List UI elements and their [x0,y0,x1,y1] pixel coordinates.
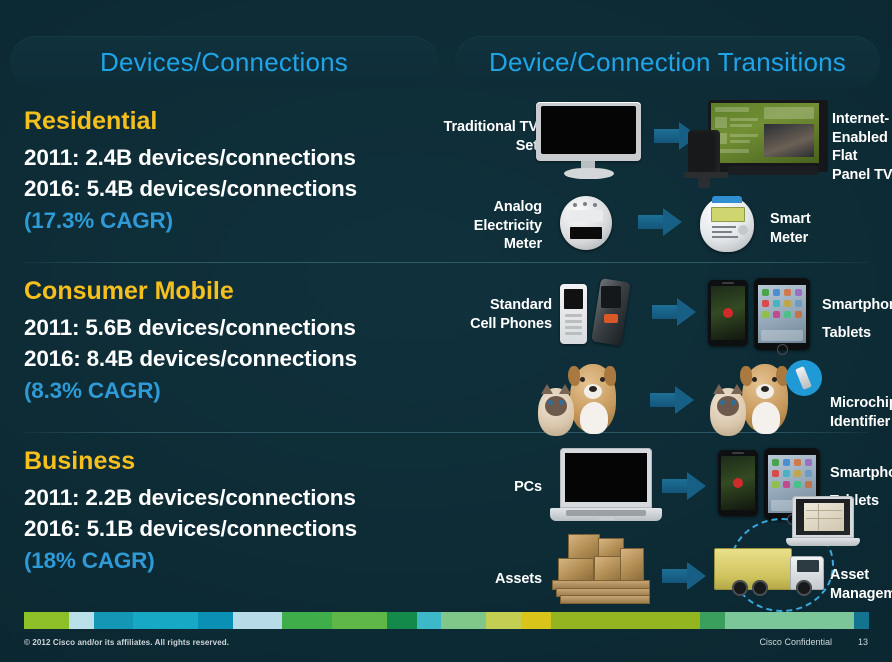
arrow-icon-phones [652,298,698,326]
segment-block-residential: Residential 2011: 2.4B devices/connectio… [24,108,434,237]
colorbar-segment-9 [417,612,442,629]
label-pcs: PCs [460,478,542,497]
devices-connections-panel: Residential 2011: 2.4B devices/connectio… [0,100,440,605]
colorbar-segment-5 [233,612,283,629]
arrow-icon-assets [662,562,708,590]
segment-consumer-2016: 2016: 8.4B devices/connections [24,343,434,375]
segment-block-business: Business 2011: 2.2B devices/connections … [24,448,434,577]
arrow-icon-pcs [662,472,708,500]
segment-business-2011: 2011: 2.2B devices/connections [24,482,434,514]
footer-confidential: Cisco Confidential [759,637,832,647]
colorbar-segment-14 [700,612,725,629]
panel-header-right-title: Device/Connection Transitions [489,47,846,78]
footer-page-number: 13 [858,637,868,647]
colorbar-segment-13 [551,612,700,629]
transition-row-microchip: Microchip Identifier [440,362,892,440]
slide-footer: © 2012 Cisco and/or its affiliates. All … [0,610,892,662]
colorbar-segment-11 [486,612,521,629]
colorbar-segment-6 [282,612,332,629]
segment-business-cagr: (18% CAGR) [24,545,434,577]
colorbar-segment-7 [332,612,387,629]
label-internet-tv: Internet- Enabled Flat Panel TV [832,110,892,184]
segment-title-residential: Residential [24,108,434,136]
transitions-panel: Traditional TV Set [440,100,892,605]
transition-row-assets: Assets [440,530,892,610]
slide-canvas: Devices/Connections Device/Connection Tr… [0,0,892,662]
segment-residential-cagr: (17.3% CAGR) [24,205,434,237]
label-microchip-identifier: Microchip Identifier [830,394,892,431]
label-traditional-tv: Traditional TV Set [442,118,538,155]
colorbar-segment-3 [133,612,198,629]
flip-phone-icon [594,280,636,348]
segment-consumer-2011: 2011: 5.6B devices/connections [24,312,434,344]
colorbar-segment-12 [521,612,551,629]
colorbar-segment-1 [69,612,94,629]
colorbar-segment-4 [198,612,233,629]
transition-row-tv: Traditional TV Set [440,100,892,190]
panel-header-transitions: Device/Connection Transitions [455,36,880,88]
laptop-icon [550,448,662,526]
transition-row-meter: Analog Electricity Meter [440,194,892,272]
colorbar-segment-10 [441,612,486,629]
segment-residential-2011: 2011: 2.4B devices/connections [24,142,434,174]
segment-block-consumer-mobile: Consumer Mobile 2011: 5.6B devices/conne… [24,278,434,407]
label-smartphones-tablets-1: Smartphones Tablets [822,292,892,347]
footer-right: Cisco Confidential 13 [759,637,868,647]
segment-business-2016: 2016: 5.1B devices/connections [24,513,434,545]
segment-residential-2016: 2016: 5.4B devices/connections [24,173,434,205]
label-asset-management: Asset Management [830,566,892,603]
label-analog-meter: Analog Electricity Meter [460,198,542,254]
label-standard-cell-phones: Standard Cell Phones [440,296,552,333]
analog-electricity-meter-icon [556,194,616,254]
candybar-phone-icon [560,284,590,346]
smart-meter-icon [696,194,758,256]
colorbar-segment-8 [387,612,417,629]
pets-icon-after [704,362,822,436]
panel-header-left-title: Devices/Connections [100,47,348,78]
smartphone-icon-1 [708,280,750,348]
segment-consumer-cagr: (8.3% CAGR) [24,375,434,407]
footer-copyright: © 2012 Cisco and/or its affiliates. All … [24,638,229,647]
colorbar-segment-15 [725,612,854,629]
segment-title-business: Business [24,448,434,476]
traditional-tv-icon [536,102,646,184]
transition-row-phones: Standard Cell Phones [440,278,892,358]
panel-header-devices-connections: Devices/Connections [10,36,438,88]
colorbar-segment-16 [854,612,869,629]
brand-color-bar [24,612,869,629]
label-assets: Assets [446,570,542,589]
tablet-icon-1 [754,278,812,352]
segment-title-consumer-mobile: Consumer Mobile [24,278,434,306]
colorbar-segment-0 [24,612,69,629]
internet-tv-icon [688,100,824,192]
colorbar-segment-2 [94,612,134,629]
assets-crates-icon [550,534,660,608]
arrow-icon-microchip [650,386,696,414]
arrow-icon-meter [638,208,684,236]
label-smart-meter: Smart Meter [770,210,840,247]
pets-icon-before [532,362,632,436]
